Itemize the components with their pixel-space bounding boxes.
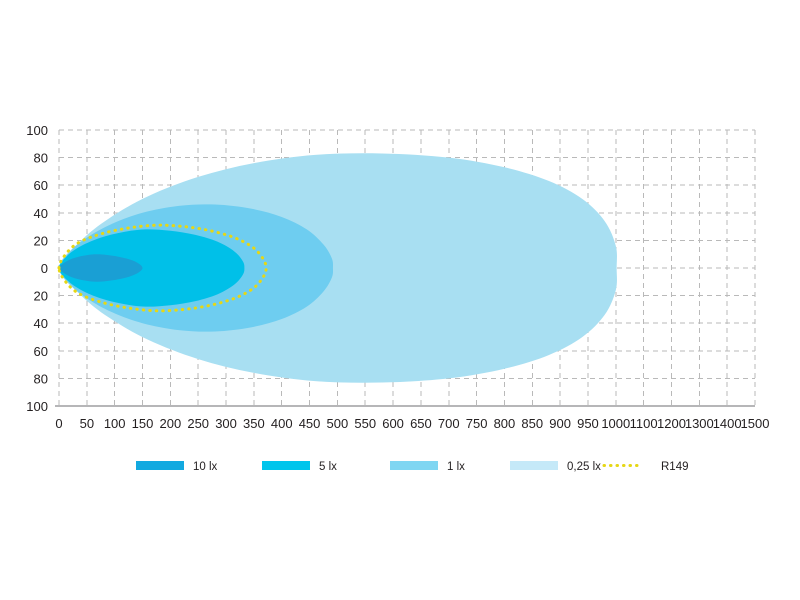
legend-item-10-lx[interactable]: 10 lx bbox=[136, 461, 218, 473]
x-tick-label: 400 bbox=[271, 416, 293, 431]
legend-item-5-lx[interactable]: 5 lx bbox=[262, 461, 337, 473]
legend-color-swatch bbox=[262, 461, 310, 470]
chart-canvas: 0501001502002503003504004505005506006507… bbox=[0, 0, 800, 600]
x-tick-label: 800 bbox=[494, 416, 516, 431]
x-tick-label: 150 bbox=[132, 416, 154, 431]
y-tick-label: 0 bbox=[41, 261, 48, 276]
x-tick-label: 1500 bbox=[741, 416, 770, 431]
legend-item-label: 10 lx bbox=[193, 461, 218, 473]
x-tick-label: 1200 bbox=[657, 416, 686, 431]
y-tick-label: 100 bbox=[26, 123, 48, 138]
legend-item-label: 0,25 lx bbox=[567, 461, 601, 473]
y-tick-label: 60 bbox=[34, 344, 48, 359]
isolux-beam-chart: 0501001502002503003504004505005506006507… bbox=[0, 0, 800, 600]
x-tick-label: 0 bbox=[55, 416, 62, 431]
x-tick-label: 1400 bbox=[713, 416, 742, 431]
y-tick-label: 60 bbox=[34, 178, 48, 193]
y-tick-label: 80 bbox=[34, 151, 48, 166]
x-tick-label: 50 bbox=[80, 416, 94, 431]
x-tick-label: 200 bbox=[160, 416, 182, 431]
legend-item-label: 5 lx bbox=[319, 461, 337, 473]
legend-item-label: R149 bbox=[661, 461, 689, 473]
x-tick-label: 850 bbox=[521, 416, 543, 431]
y-tick-label: 40 bbox=[34, 316, 48, 331]
x-tick-label: 600 bbox=[382, 416, 404, 431]
x-tick-label: 250 bbox=[187, 416, 209, 431]
legend-color-swatch bbox=[510, 461, 558, 470]
legend-item-label: 1 lx bbox=[447, 461, 465, 473]
x-tick-label: 1300 bbox=[685, 416, 714, 431]
x-tick-label: 550 bbox=[354, 416, 376, 431]
x-tick-label: 1000 bbox=[601, 416, 630, 431]
y-tick-label: 20 bbox=[34, 289, 48, 304]
x-tick-label: 100 bbox=[104, 416, 126, 431]
legend-item-0-25-lx[interactable]: 0,25 lx bbox=[510, 461, 601, 473]
legend-color-swatch bbox=[136, 461, 184, 470]
x-tick-label: 350 bbox=[243, 416, 265, 431]
x-tick-label: 500 bbox=[327, 416, 349, 431]
legend-item-r149[interactable]: R149 bbox=[604, 461, 689, 473]
x-tick-label: 750 bbox=[466, 416, 488, 431]
y-axis-tick-labels: 10080604020020406080100 bbox=[26, 123, 48, 414]
legend-item-1-lx[interactable]: 1 lx bbox=[390, 461, 465, 473]
x-tick-label: 650 bbox=[410, 416, 432, 431]
x-tick-label: 700 bbox=[438, 416, 460, 431]
x-tick-label: 950 bbox=[577, 416, 599, 431]
x-tick-label: 900 bbox=[549, 416, 571, 431]
y-tick-label: 80 bbox=[34, 371, 48, 386]
legend-color-swatch bbox=[390, 461, 438, 470]
y-tick-label: 40 bbox=[34, 206, 48, 221]
chart-legend: 10 lx5 lx1 lx0,25 lxR149 bbox=[136, 461, 689, 473]
x-tick-label: 450 bbox=[299, 416, 321, 431]
x-axis-tick-labels: 0501001502002503003504004505005506006507… bbox=[55, 416, 769, 431]
x-tick-label: 1100 bbox=[630, 416, 658, 431]
y-tick-label: 100 bbox=[26, 399, 48, 414]
y-tick-label: 20 bbox=[34, 233, 48, 248]
x-tick-label: 300 bbox=[215, 416, 237, 431]
